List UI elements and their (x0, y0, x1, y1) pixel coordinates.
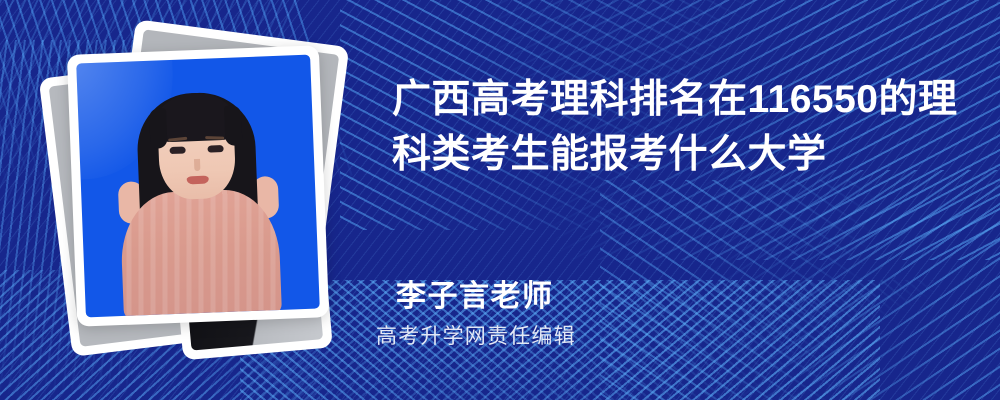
portrait-mouth (187, 176, 209, 185)
author-portrait-illustration (76, 55, 320, 318)
author-name: 李子言老师 (396, 271, 554, 315)
banner-text-column: 广西高考理科排名在116550的理科类考生能报考什么大学 李子言老师 高考升学网… (388, 0, 988, 400)
author-photo (76, 55, 320, 318)
portrait-eyebrow-right (205, 136, 224, 140)
author-photo-card (67, 45, 329, 326)
portrait-eye-right (207, 145, 223, 153)
author-photo-stack (60, 28, 350, 358)
portrait-eye-left (169, 146, 185, 154)
article-headline: 广西高考理科排名在116550的理科类考生能报考什么大学 (392, 72, 972, 183)
portrait-nose (194, 159, 200, 171)
author-role: 高考升学网责任编辑 (376, 320, 576, 350)
article-header-banner: 广西高考理科排名在116550的理科类考生能报考什么大学 李子言老师 高考升学网… (0, 0, 1000, 400)
portrait-dress (119, 188, 282, 317)
